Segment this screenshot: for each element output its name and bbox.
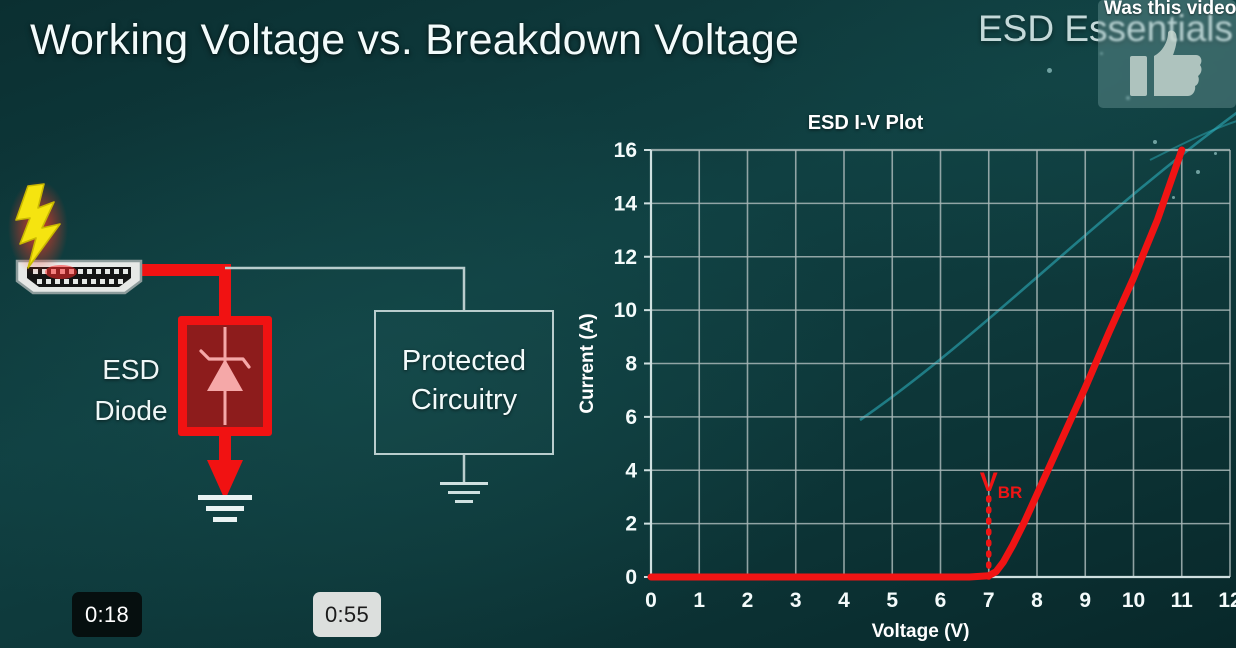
y-axis-title: Current (A) [577,313,598,413]
y-tick-label: 16 [614,139,637,162]
y-tick-label: 8 [625,353,637,376]
x-tick-label: 2 [742,589,754,612]
y-tick-label: 0 [625,566,637,589]
x-tick-label: 10 [1122,589,1145,612]
protected-circuitry-component: Protected Circuitry [374,310,554,455]
ground-symbol-icon [440,482,488,503]
y-tick-label: 4 [625,459,637,482]
protected-label-line1: Protected [376,342,552,381]
x-tick-label: 3 [790,589,802,612]
esd-diode-label: ESD Diode [86,350,176,431]
current-time-badge[interactable]: 0:18 [72,592,142,637]
x-tick-label: 5 [886,589,898,612]
lightning-bolt-icon [8,182,70,278]
protected-label-line2: Circuitry [376,381,552,420]
thumb-up-icon[interactable] [1130,30,1202,100]
esd-iv-chart: ESD I-V Plot 024681012141601234567891011… [575,100,1236,648]
x-tick-label: 6 [935,589,947,612]
survey-prompt-text: Was this video [1104,0,1236,20]
sparkle-dot [1047,68,1052,73]
x-tick-label: 8 [1031,589,1043,612]
breakdown-voltage-label: VBR [980,467,1023,502]
y-tick-label: 12 [614,246,637,269]
ground-symbol-icon [198,495,252,522]
y-tick-label: 14 [614,192,638,215]
x-tick-label: 9 [1079,589,1091,612]
slide-canvas: Working Voltage vs. Breakdown Voltage ES… [0,0,1236,648]
video-survey-overlay[interactable]: Was this video [1098,0,1236,108]
protected-circuitry-label: Protected Circuitry [376,342,552,420]
x-tick-label: 12 [1218,589,1236,612]
y-tick-label: 6 [625,406,637,429]
x-tick-label: 7 [983,589,995,612]
y-tick-label: 2 [625,513,637,536]
x-tick-label: 1 [693,589,705,612]
page-title: Working Voltage vs. Breakdown Voltage [30,16,799,65]
x-axis-title: Voltage (V) [872,621,970,642]
chart-plot-svg: 02468101214160123456789101112Voltage (V)… [575,100,1236,648]
x-tick-label: 0 [645,589,657,612]
esd-diode-label-line2: Diode [86,391,176,432]
circuit-diagram: ESD Diode Protected Circuitry [0,170,580,540]
y-tick-label: 10 [614,299,637,322]
esd-diode-label-line1: ESD [86,350,176,391]
x-tick-label: 4 [838,589,850,612]
x-tick-label: 11 [1171,589,1194,612]
total-time-badge[interactable]: 0:55 [313,592,381,637]
esd-diode-component [178,316,272,436]
zener-diode-icon [187,325,263,427]
